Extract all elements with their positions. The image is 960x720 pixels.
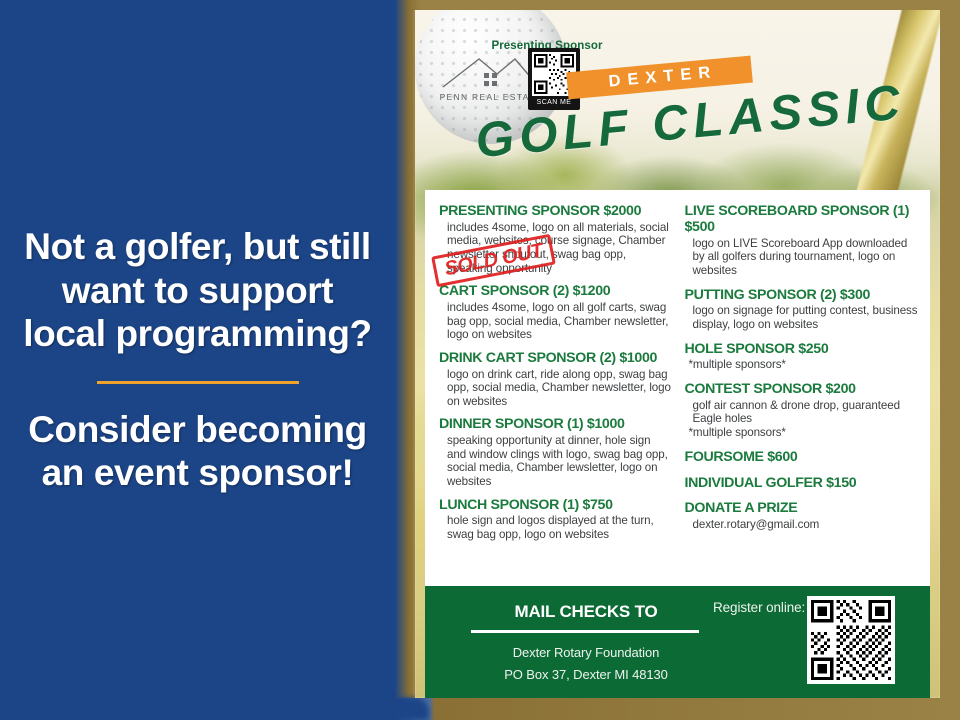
tier-foursome: FOURSOME $600 [685,450,919,466]
tier-individual-golfer: INDIVIDUAL GOLFER $150 [685,476,919,492]
tier-putting-sponsor: PUTTING SPONSOR (2) $300 logo on signage… [685,288,919,332]
mail-checks-title: MAIL CHECKS TO [471,602,701,622]
sponsor-tiers-card: PRESENTING SPONSOR $2000 includes 4some,… [425,190,930,586]
golf-classic-flyer: PENN REAL ESTATE Presenting Sponsor [415,10,940,698]
register-online-label: Register online: [713,600,805,615]
tier-note: *multiple sponsors* [689,358,919,372]
tier-lunch-sponsor: LUNCH SPONSOR (1) $750 hole sign and log… [439,498,673,542]
tier-details: logo on signage for putting contest, bus… [693,304,919,331]
tier-name: PRESENTING SPONSOR $2000 [439,204,673,220]
sponsor-tiers-right-column: LIVE SCOREBOARD SPONSOR (1) $500 logo on… [673,204,919,576]
tier-name: DINNER SPONSOR (1) $1000 [439,417,673,433]
tier-details: logo on LIVE Scoreboard App downloaded b… [693,237,919,278]
flyer-corner-shadow [395,698,429,720]
tier-live-scoreboard-sponsor: LIVE SCOREBOARD SPONSOR (1) $500 logo on… [685,204,919,278]
tier-drink-cart-sponsor: DRINK CART SPONSOR (2) $1000 logo on dri… [439,351,673,409]
mail-checks-block: MAIL CHECKS TO Dexter Rotary Foundation … [471,602,701,687]
tier-name: LUNCH SPONSOR (1) $750 [439,498,673,514]
tier-name: CART SPONSOR (2) $1200 [439,284,673,300]
tier-details: includes 4some, logo on all golf carts, … [447,301,673,342]
tier-name: LIVE SCOREBOARD SPONSOR (1) $500 [685,204,919,236]
tier-contest-sponsor: CONTEST SPONSOR $200 golf air cannon & d… [685,382,919,440]
tier-name: INDIVIDUAL GOLFER $150 [685,476,919,492]
tier-name: HOLE SPONSOR $250 [685,342,919,358]
tier-name: DONATE A PRIZE [685,501,919,517]
tier-details: hole sign and logos displayed at the tur… [447,514,673,541]
tier-details: golf air cannon & drone drop, guaranteed… [693,399,919,426]
tier-name: CONTEST SPONSOR $200 [685,382,919,398]
promo-panel: Not a golfer, but still want to support … [0,0,395,720]
tier-dinner-sponsor: DINNER SPONSOR (1) $1000 speaking opport… [439,417,673,488]
tier-name: DRINK CART SPONSOR (2) $1000 [439,351,673,367]
organization-name: Dexter Rotary Foundation [471,642,701,665]
donation-email[interactable]: dexter.rotary@gmail.com [693,518,919,532]
flyer-footer: MAIL CHECKS TO Dexter Rotary Foundation … [425,586,930,698]
tier-name: FOURSOME $600 [685,450,919,466]
mail-checks-divider [471,630,699,633]
promo-headline: Not a golfer, but still want to support … [18,225,377,355]
tier-cart-sponsor: CART SPONSOR (2) $1200 includes 4some, l… [439,284,673,342]
tier-details: logo on drink cart, ride along opp, swag… [447,368,673,409]
flyer-bottom-edge [395,698,960,720]
promo-divider [97,381,299,384]
tier-donate-a-prize: DONATE A PRIZE dexter.rotary@gmail.com [685,501,919,531]
tier-name: PUTTING SPONSOR (2) $300 [685,288,919,304]
mailing-address: PO Box 37, Dexter MI 48130 [471,664,701,687]
tier-details: speaking opportunity at dinner, hole sig… [447,434,673,488]
register-qr-code[interactable] [807,596,895,684]
tier-hole-sponsor: HOLE SPONSOR $250 *multiple sponsors* [685,342,919,372]
promo-subline: Consider becoming an event sponsor! [18,408,377,495]
tier-note: *multiple sponsors* [689,426,919,440]
